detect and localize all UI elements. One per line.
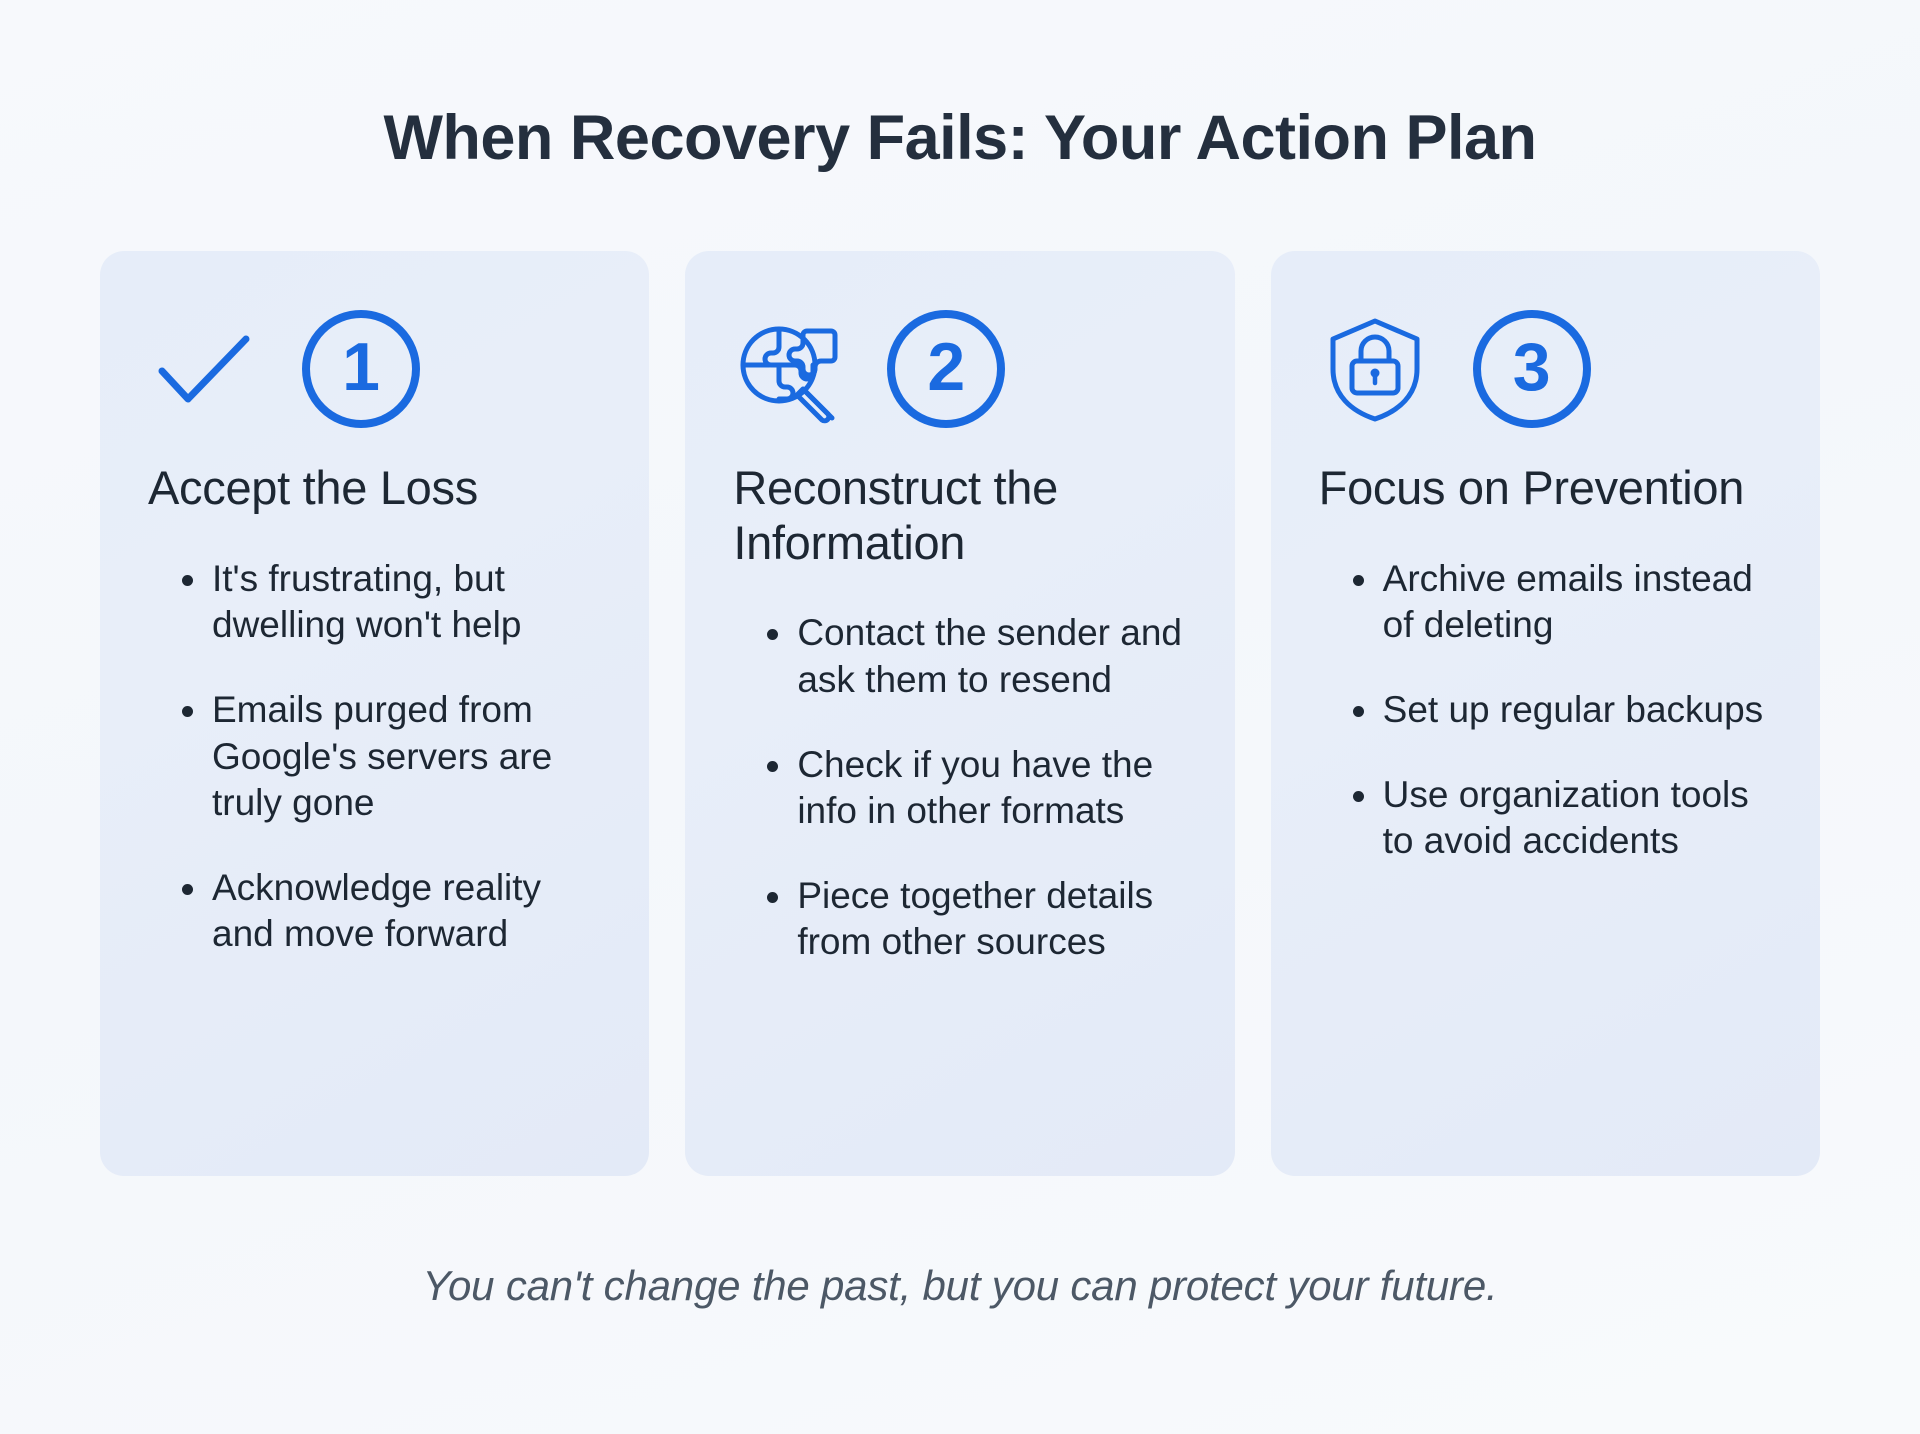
list-item: Contact the sender and ask them to resen… — [767, 610, 1186, 703]
step-card-1-heading: Accept the Loss — [148, 461, 601, 516]
puzzle-magnifier-icon — [733, 313, 845, 425]
step-card-1: 1 Accept the Loss It's frustrating, but … — [100, 251, 649, 1176]
page-title: When Recovery Fails: Your Action Plan — [100, 0, 1820, 173]
step-number-badge-2: 2 — [887, 310, 1005, 428]
step-card-2-header: 2 — [733, 303, 1186, 435]
step-card-3: 3 Focus on Prevention Archive emails ins… — [1271, 251, 1820, 1176]
step-card-1-header: 1 — [148, 303, 601, 435]
step-card-3-heading: Focus on Prevention — [1319, 461, 1772, 516]
footer-note: You can't change the past, but you can p… — [100, 1262, 1820, 1310]
list-item: Use organization tools to avoid accident… — [1353, 772, 1772, 865]
step-card-2-heading: Reconstruct the Information — [733, 461, 1186, 570]
step-card-1-bullets: It's frustrating, but dwelling won't hel… — [148, 556, 601, 958]
step-number-3: 3 — [1513, 333, 1551, 401]
list-item: Acknowledge reality and move forward — [182, 865, 601, 958]
checkmark-icon — [148, 313, 260, 425]
list-item: Set up regular backups — [1353, 687, 1772, 734]
step-number-badge-3: 3 — [1473, 310, 1591, 428]
step-number-1: 1 — [342, 333, 380, 401]
step-card-3-bullets: Archive emails instead of deleting Set u… — [1319, 556, 1772, 865]
step-card-2-bullets: Contact the sender and ask them to resen… — [733, 610, 1186, 966]
steps-container: 1 Accept the Loss It's frustrating, but … — [100, 251, 1820, 1176]
step-card-3-header: 3 — [1319, 303, 1772, 435]
infographic-page: When Recovery Fails: Your Action Plan 1 … — [0, 0, 1920, 1434]
list-item: It's frustrating, but dwelling won't hel… — [182, 556, 601, 649]
list-item: Check if you have the info in other form… — [767, 742, 1186, 835]
shield-lock-icon — [1319, 313, 1431, 425]
step-card-2: 2 Reconstruct the Information Contact th… — [685, 251, 1234, 1176]
list-item: Emails purged from Google's servers are … — [182, 687, 601, 827]
step-number-badge-1: 1 — [302, 310, 420, 428]
step-number-2: 2 — [927, 333, 965, 401]
list-item: Piece together details from other source… — [767, 873, 1186, 966]
list-item: Archive emails instead of deleting — [1353, 556, 1772, 649]
